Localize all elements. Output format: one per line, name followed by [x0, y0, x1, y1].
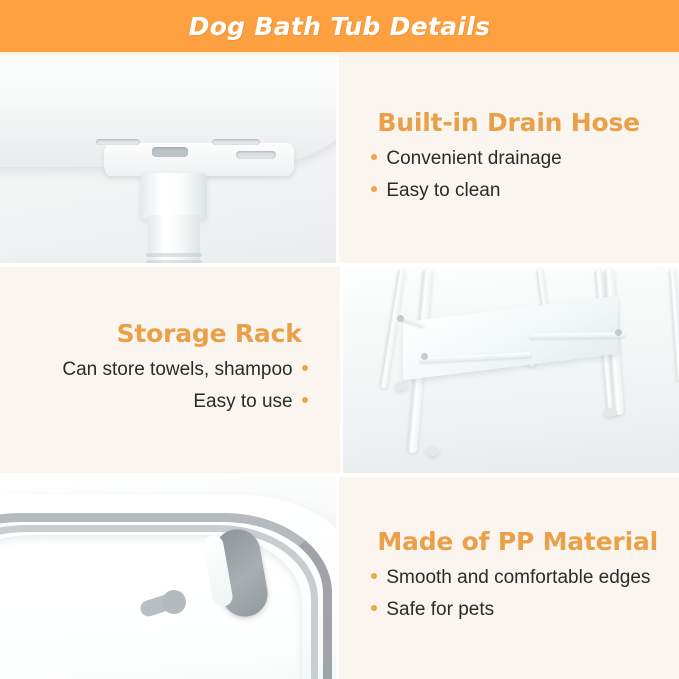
rack-leg-shape	[536, 269, 548, 309]
bullet-dot-icon	[371, 154, 377, 160]
rack-leg-shape	[379, 269, 405, 389]
bullet-text: Easy to use	[193, 389, 292, 415]
feature-section-pp-material: Made of PP Material Smooth and comfortab…	[0, 477, 679, 679]
feature-heading: Made of PP Material	[371, 527, 658, 556]
dog-bath-tub-details-infographic: Dog Bath Tub Details Built-in Drain Hose	[0, 0, 679, 679]
list-item: Easy to clean	[371, 178, 659, 204]
rack-foot-shape	[604, 408, 617, 417]
feature-heading: Built-in Drain Hose	[371, 108, 640, 137]
bullet-dot-icon	[371, 573, 377, 579]
bullet-text: Smooth and comfortable edges	[386, 565, 650, 591]
page-title: Dog Bath Tub Details	[189, 12, 491, 41]
rack-shelf-shape	[403, 296, 618, 380]
drain-hose-text-panel: Built-in Drain Hose Convenient drainage …	[339, 55, 679, 263]
tub-drain-hole-cap-shape	[162, 590, 186, 614]
feature-section-storage-rack: Storage Rack Can store towels, shampoo E…	[0, 267, 679, 473]
rack-leg-shape	[669, 269, 679, 381]
collapsible-tub-image	[0, 477, 336, 679]
bullet-dot-icon	[302, 397, 308, 403]
storage-rack-image	[343, 267, 679, 473]
feature-section-drain-hose: Built-in Drain Hose Convenient drainage …	[0, 55, 679, 263]
storage-rack-photo	[343, 267, 679, 473]
storage-rack-text-panel: Storage Rack Can store towels, shampoo E…	[0, 267, 340, 473]
bullet-text: Convenient drainage	[386, 146, 561, 172]
pp-material-photo	[0, 477, 336, 679]
list-item: Smooth and comfortable edges	[371, 565, 659, 591]
rack-foot-shape	[395, 382, 408, 391]
bullet-text: Easy to clean	[386, 178, 500, 204]
drain-hose-image	[0, 55, 336, 263]
list-item: Safe for pets	[371, 597, 659, 623]
feature-bullet-list: Can store towels, shampoo Easy to use	[20, 357, 308, 420]
bullet-dot-icon	[302, 365, 308, 371]
drain-slot-shape	[96, 139, 140, 145]
bullet-text: Safe for pets	[386, 597, 494, 623]
header-bar: Dog Bath Tub Details	[0, 0, 679, 52]
feature-bullet-list: Smooth and comfortable edges Safe for pe…	[371, 565, 659, 628]
bullet-dot-icon	[371, 605, 377, 611]
feature-heading: Storage Rack	[117, 319, 308, 348]
feature-bullet-list: Convenient drainage Easy to clean	[371, 146, 659, 209]
drain-slot-shape	[212, 139, 260, 145]
bullet-text: Can store towels, shampoo	[62, 357, 292, 383]
rack-joint-shape	[397, 315, 404, 322]
list-item: Easy to use	[20, 389, 308, 415]
drain-slot-shape	[236, 151, 276, 159]
drain-slot-shape	[152, 147, 188, 157]
list-item: Can store towels, shampoo	[20, 357, 308, 383]
drain-collar-shape	[141, 173, 207, 219]
drain-hose-photo	[0, 55, 336, 263]
drain-plate-shape	[104, 143, 294, 176]
list-item: Convenient drainage	[371, 146, 659, 172]
rack-joint-shape	[615, 329, 622, 336]
rack-joint-shape	[421, 353, 428, 360]
bullet-dot-icon	[371, 186, 377, 192]
rack-foot-shape	[426, 447, 439, 456]
pp-material-text-panel: Made of PP Material Smooth and comfortab…	[339, 477, 679, 679]
drain-pipe-ring-shape	[146, 253, 202, 257]
